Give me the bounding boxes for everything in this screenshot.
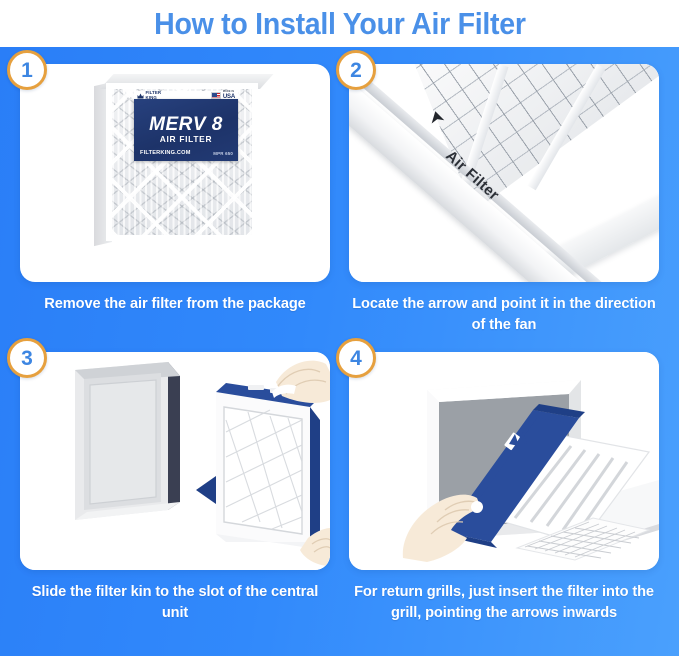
step-card-3: 3 Slide the filter kin to the slot of th… xyxy=(20,352,330,624)
air-filter-subtitle: AIR FILTER xyxy=(134,135,238,144)
step-card-4: 4 For return grills, just insert the fil… xyxy=(349,352,659,624)
step-number-1: 1 xyxy=(21,60,33,81)
step-card-2: Air Filter 2 Locate the arrow and point … xyxy=(349,64,659,336)
step-card-1: FILTER KING MADE IN USA xyxy=(20,64,330,315)
step-badge-1: 1 xyxy=(7,50,47,90)
step-badge-2: 2 xyxy=(336,50,376,90)
mpr-rating-text: MPR 650 xyxy=(213,151,233,156)
header-band: How to Install Your Air Filter xyxy=(0,0,679,47)
step-caption-3: Slide the filter kin to the slot of the … xyxy=(20,582,330,624)
step-2-art: Air Filter xyxy=(349,64,659,282)
step-1-image-card: FILTER KING MADE IN USA xyxy=(20,64,330,282)
filter-front-face: FILTER KING MADE IN USA xyxy=(106,83,258,241)
us-flag-icon xyxy=(211,92,221,99)
air-filter-product-image: FILTER KING MADE IN USA xyxy=(94,74,264,246)
central-unit-slot xyxy=(75,362,180,520)
step-3-art xyxy=(20,352,330,570)
step-3-image-card: 3 xyxy=(20,352,330,570)
step-number-3: 3 xyxy=(21,348,33,369)
crown-icon xyxy=(137,93,144,99)
step-number-4: 4 xyxy=(350,348,362,369)
step-caption-4: For return grills, just insert the filte… xyxy=(349,582,659,624)
page-title: How to Install Your Air Filter xyxy=(154,7,525,41)
filter-label-panel: MERV 8 AIR FILTER FILTERKING.COM MPR 650 xyxy=(134,99,238,161)
step-1-art: FILTER KING MADE IN USA xyxy=(20,64,330,282)
step-number-2: 2 xyxy=(350,60,362,81)
step-4-art xyxy=(349,352,659,570)
step-4-image-card: 4 xyxy=(349,352,659,570)
filter-frame-corner-image: Air Filter xyxy=(349,64,659,282)
return-grill-illustration xyxy=(349,352,659,570)
filter-panel xyxy=(216,383,320,548)
step-caption-1: Remove the air filter from the package xyxy=(20,294,330,315)
step-2-image-card: Air Filter 2 xyxy=(349,64,659,282)
steps-grid: FILTER KING MADE IN USA xyxy=(0,47,679,656)
merv-rating-text: MERV 8 xyxy=(134,115,238,135)
slide-filter-illustration xyxy=(20,352,330,570)
step-badge-3: 3 xyxy=(7,338,47,378)
label-footer: FILTERKING.COM MPR 650 xyxy=(140,150,233,156)
step-caption-2: Locate the arrow and point it in the dir… xyxy=(349,294,659,336)
infographic-root: How to Install Your Air Filter xyxy=(0,0,679,656)
website-text: FILTERKING.COM xyxy=(140,150,191,156)
step-badge-4: 4 xyxy=(336,338,376,378)
